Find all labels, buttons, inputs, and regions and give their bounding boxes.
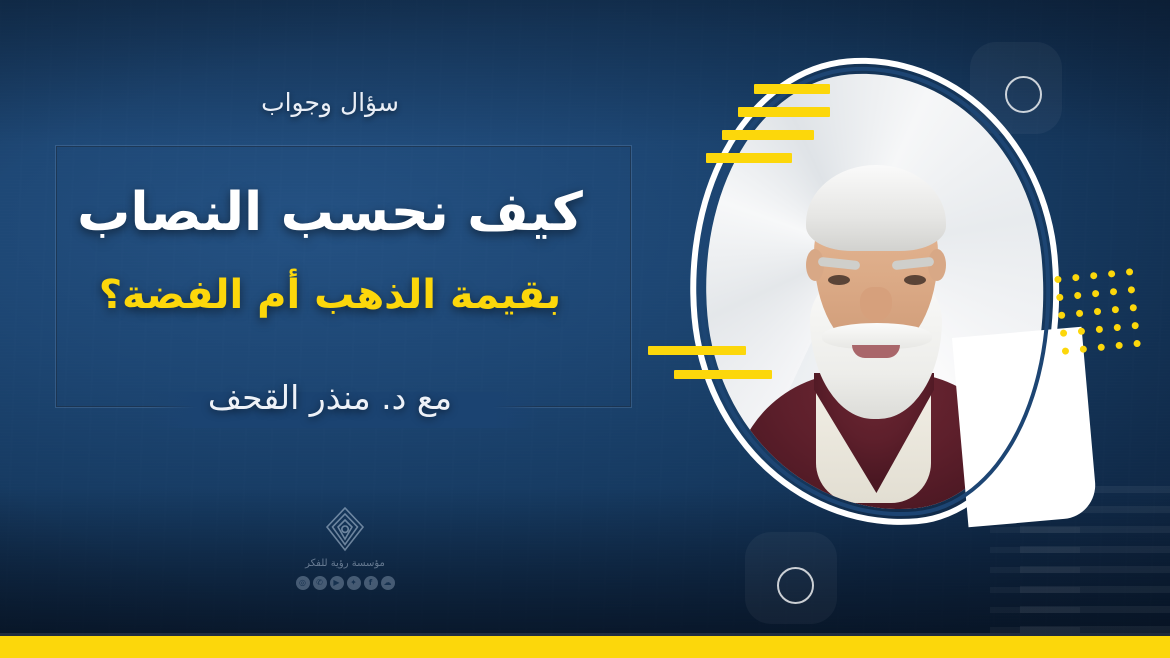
dot-decor — [1072, 274, 1080, 282]
dot-decor — [1128, 286, 1136, 294]
facebook-icon[interactable]: f — [364, 576, 378, 590]
dot-decor — [1131, 322, 1139, 330]
dot-decor — [1060, 329, 1068, 337]
dot-decor — [1115, 342, 1123, 350]
dot-decor — [1113, 324, 1121, 332]
bottom-accent-bar — [0, 636, 1170, 658]
dot-decor — [1062, 347, 1070, 355]
circle-outline-bottom-decor — [777, 567, 814, 604]
dot-grid-decor — [1054, 268, 1141, 355]
dot-decor — [1094, 308, 1102, 316]
dot-decor — [1054, 276, 1062, 284]
dot-decor — [1133, 340, 1141, 348]
dot-decor — [1090, 272, 1098, 280]
rawya-diamond-spiral-logo-icon — [290, 505, 400, 553]
whatsapp-icon[interactable]: ✆ — [313, 576, 327, 590]
dot-decor — [1092, 290, 1100, 298]
dot-decor — [1056, 294, 1064, 302]
brand-name: مؤسسة رؤية للفكر — [290, 558, 400, 569]
portrait-group — [660, 32, 1100, 592]
dot-decor — [1058, 311, 1066, 319]
yellow-bar-decor — [674, 370, 772, 379]
dot-decor — [1096, 326, 1104, 334]
yellow-stripe-decor — [754, 84, 830, 94]
twitter-icon[interactable]: ✦ — [347, 576, 361, 590]
yellow-bar-decor — [648, 346, 746, 355]
yellow-stripe-decor — [738, 107, 830, 117]
yellow-stripe-decor — [706, 153, 792, 163]
headline-line-2: بقيمة الذهب أم الفضة؟ — [0, 272, 660, 318]
social-icons-row[interactable]: ◎✆▶✦f☁ — [290, 576, 400, 590]
dot-decor — [1112, 306, 1120, 314]
dot-decor — [1108, 270, 1116, 278]
soundcloud-icon[interactable]: ☁ — [381, 576, 395, 590]
instagram-icon[interactable]: ◎ — [296, 576, 310, 590]
dot-decor — [1078, 327, 1086, 335]
speaker-credit: مع د. منذر القحف — [0, 378, 660, 417]
dot-decor — [1126, 268, 1134, 276]
eyebrow-label: سؤال وجواب — [0, 88, 660, 117]
dot-decor — [1074, 292, 1082, 300]
dot-decor — [1110, 288, 1118, 296]
headline-line-1: كيف نحسب النصاب — [0, 182, 660, 243]
youtube-icon[interactable]: ▶ — [330, 576, 344, 590]
dot-decor — [1097, 343, 1105, 351]
brand-block: مؤسسة رؤية للفكر ◎✆▶✦f☁ — [290, 505, 400, 590]
yellow-stripe-decor — [722, 130, 814, 140]
dot-decor — [1080, 345, 1088, 353]
promo-card: سؤال وجواب كيف نحسب النصاب بقيمة الذهب أ… — [0, 0, 1170, 658]
dot-decor — [1076, 310, 1084, 318]
dot-decor — [1129, 304, 1137, 312]
